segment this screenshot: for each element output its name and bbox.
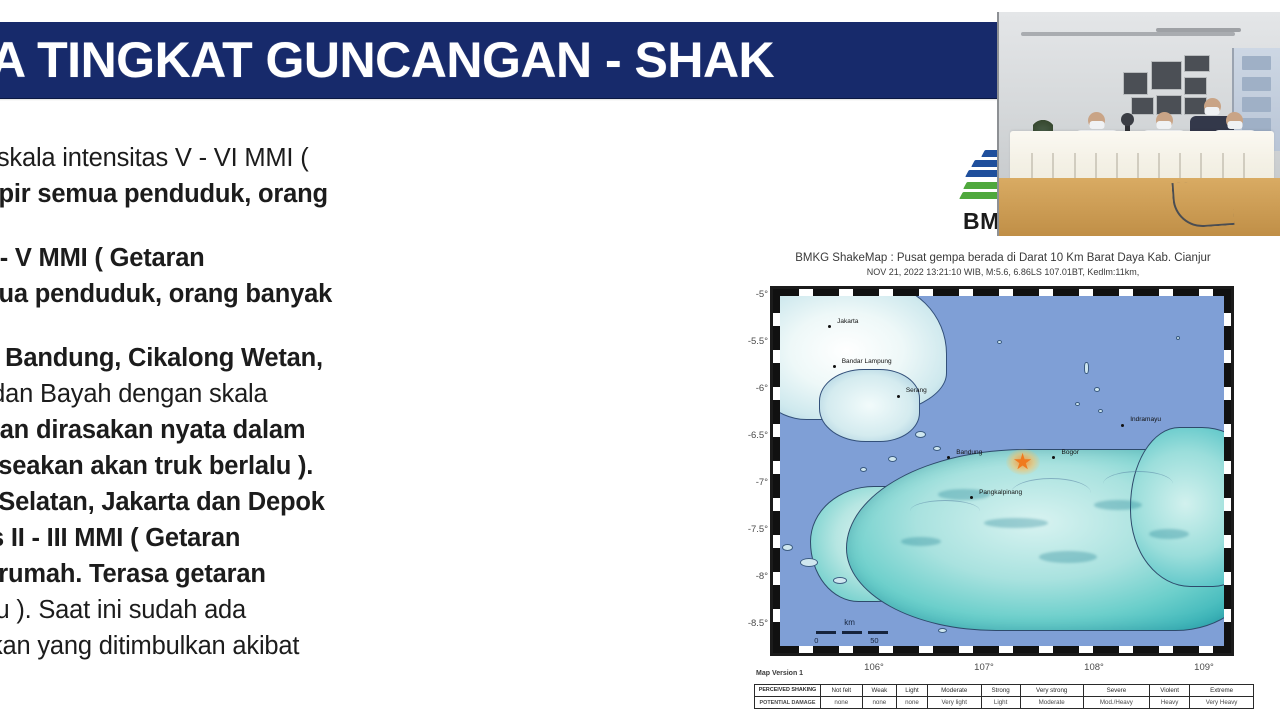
body-line-10: as II - III MMI ( Getaran <box>0 520 522 556</box>
legend-perceived-6: Severe <box>1083 685 1149 697</box>
y-tick-6: -8° <box>728 571 768 582</box>
legend-perceived-0: Not felt <box>821 685 863 697</box>
legend-perceived-7: Violent <box>1150 685 1190 697</box>
islet <box>888 456 897 462</box>
legend-row-label-perceived: PERCEIVED SHAKING <box>755 685 821 697</box>
plot-right-border <box>1224 289 1231 653</box>
legend-perceived-8: Extreme <box>1190 685 1254 697</box>
islet <box>1098 409 1103 413</box>
city-label-jakarta: Jakarta <box>837 318 858 325</box>
terrain-ridge <box>1039 551 1097 563</box>
legend-damage-4: Light <box>981 697 1020 709</box>
legend-perceived-5: Very strong <box>1020 685 1083 697</box>
x-tick-2: 108° <box>1074 662 1114 673</box>
islet <box>997 340 1002 344</box>
y-tick-5: -7.5° <box>728 524 768 535</box>
paragraph-gap-2 <box>0 312 522 340</box>
press-conference-video-overlay[interactable] <box>997 12 1280 236</box>
body-line-2: mpir semua penduduk, orang <box>0 176 522 212</box>
x-tick-1: 107° <box>964 662 1004 673</box>
shakemap-subtitle: NOV 21, 2022 13:21:10 WIB, M:5.6, 6.86LS… <box>726 267 1280 277</box>
y-tick-1: -5.5° <box>728 336 768 347</box>
wall-photo-frame <box>1184 55 1209 73</box>
islet <box>860 467 867 472</box>
ceiling-light-bar <box>1021 32 1235 36</box>
city-label-bandung: Bandung <box>956 449 982 456</box>
city-dot-indramayu <box>1121 424 1124 427</box>
legend-damage-7: Heavy <box>1150 697 1190 709</box>
body-line-5: ta Bandung, Cikalong Wetan, <box>0 340 522 376</box>
table-row: POTENTIAL DAMAGE none none none Very lig… <box>755 697 1254 709</box>
clipped-text-line <box>0 126 522 140</box>
legend-damage-1: none <box>862 697 896 709</box>
legend-perceived-1: Weak <box>862 685 896 697</box>
legend-perceived-3: Moderate <box>927 685 981 697</box>
body-line-8: n seakan akan truk berlalu ). <box>0 448 522 484</box>
body-line-7: aran dirasakan nyata dalam <box>0 412 522 448</box>
y-tick-0: -5° <box>728 289 768 300</box>
body-line-1: n skala intensitas V - VI MMI ( <box>0 140 522 176</box>
map-version-label: Map Version 1 <box>756 670 803 677</box>
wall-photo-frame <box>1184 77 1206 95</box>
islet <box>1094 387 1100 392</box>
scale-max-label: 50 <box>870 636 878 645</box>
legend-damage-2: none <box>897 697 928 709</box>
page-title: A TINGKAT GUNCANGAN - SHAK <box>0 35 774 85</box>
wall-photo-frame <box>1123 72 1148 94</box>
y-tick-2: -6° <box>728 383 768 394</box>
ceiling-light-bar-2 <box>1156 28 1240 32</box>
scale-unit-label: km <box>844 618 855 627</box>
legend-damage-6: Mod./Heavy <box>1083 697 1149 709</box>
intensity-legend-table: PERCEIVED SHAKING Not felt Weak Light Mo… <box>754 684 1254 709</box>
body-line-11: n rumah. Terasa getaran <box>0 556 522 592</box>
video-floor <box>999 178 1280 236</box>
legend-damage-0: none <box>821 697 863 709</box>
body-line-3: V - V MMI ( Getaran <box>0 240 522 276</box>
legend-row-label-damage: POTENTIAL DAMAGE <box>755 697 821 709</box>
terrain-ridge <box>1094 500 1142 510</box>
sumatra-south-tip <box>819 369 920 442</box>
y-tick-4: -7° <box>728 477 768 488</box>
scale-min-label: 0 <box>814 636 818 645</box>
legend-damage-5: Moderate <box>1020 697 1083 709</box>
city-label-bandar-lampung: Bandar Lampung <box>842 358 892 365</box>
slide-title-banner: A TINGKAT GUNCANGAN - SHAK <box>0 22 1020 98</box>
body-line-12: alu ). Saat ini sudah ada <box>0 592 522 628</box>
slide-stage: A TINGKAT GUNCANGAN - SHAK n skala inten… <box>0 0 1280 720</box>
wall-photo-frame <box>1151 61 1182 90</box>
legend-perceived-4: Strong <box>981 685 1020 697</box>
islet <box>1075 402 1080 406</box>
legend-perceived-2: Light <box>897 685 928 697</box>
terrain-ridge <box>901 537 941 546</box>
city-dot-serang <box>897 395 900 398</box>
paragraph-gap <box>0 212 522 240</box>
banner-shadow <box>0 98 1020 101</box>
bmkg-shakemap-figure: BMKG ShakeMap : Pusat gempa berada di Da… <box>726 252 1280 720</box>
body-line-13: akan yang ditimbulkan akibat <box>0 628 522 664</box>
islet <box>782 544 793 551</box>
x-tick-3: 109° <box>1184 662 1224 673</box>
x-tick-0: 106° <box>854 662 894 673</box>
table-row: PERCEIVED SHAKING Not felt Weak Light Mo… <box>755 685 1254 697</box>
plot-left-border <box>773 289 780 653</box>
shakemap-title: BMKG ShakeMap : Pusat gempa berada di Da… <box>726 252 1280 264</box>
legend-damage-3: Very light <box>927 697 981 709</box>
legend-damage-8: Very Heavy <box>1190 697 1254 709</box>
city-label-pangkalpinang: Pangkalpinang <box>979 489 1022 496</box>
y-tick-7: -8.5° <box>728 618 768 629</box>
body-line-4: mua penduduk, orang banyak <box>0 276 522 312</box>
islet <box>833 577 847 584</box>
city-label-bogor: Bogor <box>1062 449 1079 456</box>
city-label-serang: Serang <box>906 387 927 394</box>
islet <box>915 431 926 438</box>
body-line-6: r dan Bayah dengan skala <box>0 376 522 412</box>
province-boundary <box>1103 471 1173 497</box>
islet <box>1084 362 1089 374</box>
slide-body-text: n skala intensitas V - VI MMI ( mpir sem… <box>0 126 522 664</box>
body-line-9: g Selatan, Jakarta dan Depok <box>0 484 522 520</box>
islet <box>938 628 947 633</box>
islet <box>933 446 941 451</box>
islet <box>1176 336 1180 340</box>
y-tick-3: -6.5° <box>728 430 768 441</box>
shakemap-plot-area[interactable]: Jakarta Bandar Lampung Serang Bandung Pa… <box>770 286 1234 656</box>
city-label-indramayu: Indramayu <box>1130 416 1161 423</box>
